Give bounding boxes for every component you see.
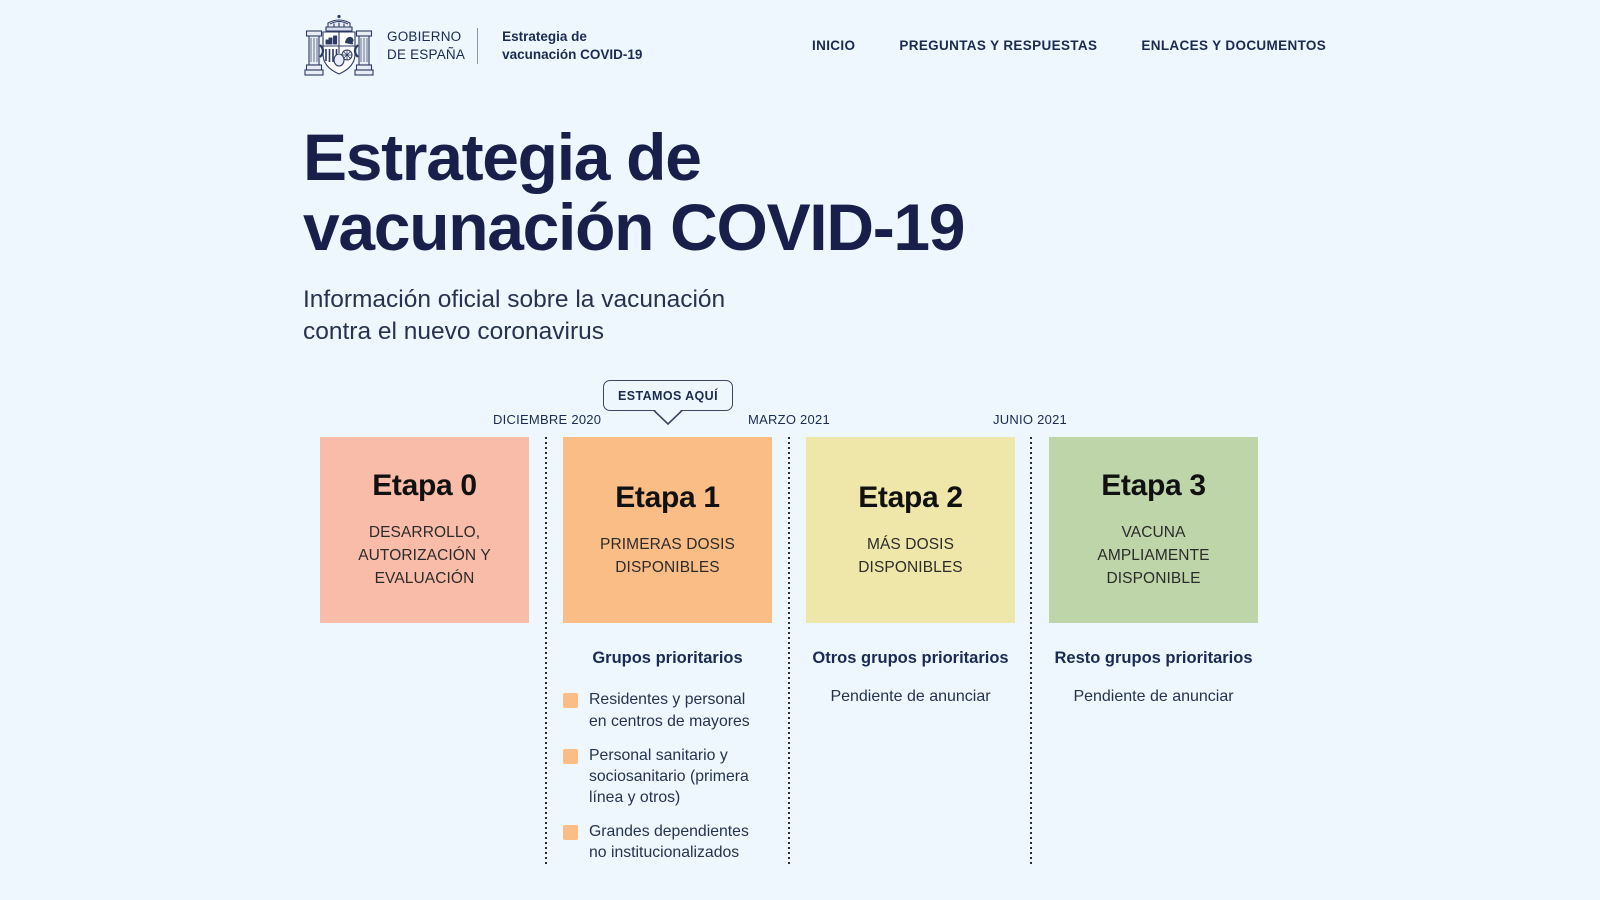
- timeline-column-etapa-2: Etapa 2 MÁS DOSIS DISPONIBLES Otros grup…: [806, 437, 1015, 864]
- list-item: Residentes y personal en centros de mayo…: [563, 689, 772, 731]
- list-item-label: Residentes y personal en centros de mayo…: [589, 689, 750, 731]
- status-badge-estamos-aqui: ESTAMOS AQUÍ: [603, 380, 733, 411]
- spain-coat-of-arms-icon: [303, 13, 375, 79]
- nav-link-inicio[interactable]: INICIO: [812, 38, 855, 53]
- group-title-etapa-1: Grupos prioritarios: [592, 648, 742, 669]
- list-item: Personal sanitario y sociosanitario (pri…: [563, 745, 772, 808]
- timeline-column-etapa-1: Etapa 1 PRIMERAS DOSIS DISPONIBLES Grupo…: [563, 437, 772, 864]
- badge-pointer-icon: [653, 410, 683, 426]
- timeline-date-marzo-2021: MARZO 2021: [748, 412, 830, 427]
- page-subtitle: Información oficial sobre la vacunación …: [303, 284, 1063, 349]
- stage-description-etapa-1: PRIMERAS DOSIS DISPONIBLES: [600, 534, 735, 580]
- page-title: Estrategia de vacunación COVID-19: [303, 123, 1063, 263]
- timeline-columns: Etapa 0 DESARROLLO, AUTORIZACIÓN Y EVALU…: [320, 437, 1256, 864]
- bullet-square-icon: [563, 825, 578, 840]
- stage-description-etapa-3: VACUNA AMPLIAMENTE DISPONIBLE: [1097, 522, 1209, 591]
- main-navigation: INICIO PREGUNTAS Y RESPUESTAS ENLACES Y …: [812, 38, 1326, 53]
- brand-strategy-text: Estrategia de vacunación COVID-19: [490, 28, 642, 64]
- stage-card-etapa-3[interactable]: Etapa 3 VACUNA AMPLIAMENTE DISPONIBLE: [1049, 437, 1258, 623]
- vaccination-timeline: ESTAMOS AQUÍ DICIEMBRE 2020 MARZO 2021 J…: [320, 380, 1256, 880]
- stage-description-etapa-2: MÁS DOSIS DISPONIBLES: [858, 534, 962, 580]
- group-title-etapa-2: Otros grupos prioritarios: [812, 648, 1008, 669]
- list-item: Grandes dependientes no institucionaliza…: [563, 821, 772, 863]
- brand-government-text: GOBIERNO DE ESPAÑA: [387, 28, 478, 64]
- group-note-etapa-3: Pendiente de anunciar: [1073, 687, 1233, 708]
- brand-gob-line2: DE ESPAÑA: [387, 47, 465, 62]
- timeline-date-labels: DICIEMBRE 2020 MARZO 2021 JUNIO 2021: [320, 412, 1256, 432]
- timeline-date-junio-2021: JUNIO 2021: [993, 412, 1067, 427]
- stage-description-etapa-0: DESARROLLO, AUTORIZACIÓN Y EVALUACIÓN: [358, 522, 491, 591]
- page-root: GOBIERNO DE ESPAÑA Estrategia de vacunac…: [0, 0, 1600, 900]
- bullet-square-icon: [563, 749, 578, 764]
- group-title-etapa-3: Resto grupos prioritarios: [1054, 648, 1252, 669]
- stage-card-etapa-0[interactable]: Etapa 0 DESARROLLO, AUTORIZACIÓN Y EVALU…: [320, 437, 529, 623]
- timeline-column-etapa-3: Etapa 3 VACUNA AMPLIAMENTE DISPONIBLE Re…: [1049, 437, 1258, 864]
- site-header: GOBIERNO DE ESPAÑA Estrategia de vacunac…: [0, 0, 1600, 92]
- timeline-date-diciembre-2020: DICIEMBRE 2020: [493, 412, 601, 427]
- nav-link-preguntas[interactable]: PREGUNTAS Y RESPUESTAS: [899, 38, 1097, 53]
- list-item-label: Grandes dependientes no institucionaliza…: [589, 821, 749, 863]
- bullet-square-icon: [563, 693, 578, 708]
- group-note-etapa-2: Pendiente de anunciar: [830, 687, 990, 708]
- brand-logo[interactable]: GOBIERNO DE ESPAÑA Estrategia de vacunac…: [303, 13, 642, 79]
- stage-name-etapa-3: Etapa 3: [1101, 469, 1206, 502]
- brand-strategy-line2: vacunación COVID-19: [502, 47, 642, 62]
- hero-section: Estrategia de vacunación COVID-19 Inform…: [303, 123, 1063, 349]
- brand-strategy-line1: Estrategia de: [502, 29, 587, 44]
- stage-name-etapa-1: Etapa 1: [615, 481, 720, 514]
- stage-card-etapa-1[interactable]: Etapa 1 PRIMERAS DOSIS DISPONIBLES: [563, 437, 772, 623]
- brand-gob-line1: GOBIERNO: [387, 29, 461, 44]
- list-item-label: Personal sanitario y sociosanitario (pri…: [589, 745, 749, 808]
- timeline-column-etapa-0: Etapa 0 DESARROLLO, AUTORIZACIÓN Y EVALU…: [320, 437, 529, 864]
- priority-group-list-etapa-1: Residentes y personal en centros de mayo…: [563, 689, 772, 863]
- stage-name-etapa-2: Etapa 2: [858, 481, 963, 514]
- stage-card-etapa-2[interactable]: Etapa 2 MÁS DOSIS DISPONIBLES: [806, 437, 1015, 623]
- nav-link-enlaces[interactable]: ENLACES Y DOCUMENTOS: [1141, 38, 1326, 53]
- stage-name-etapa-0: Etapa 0: [372, 469, 477, 502]
